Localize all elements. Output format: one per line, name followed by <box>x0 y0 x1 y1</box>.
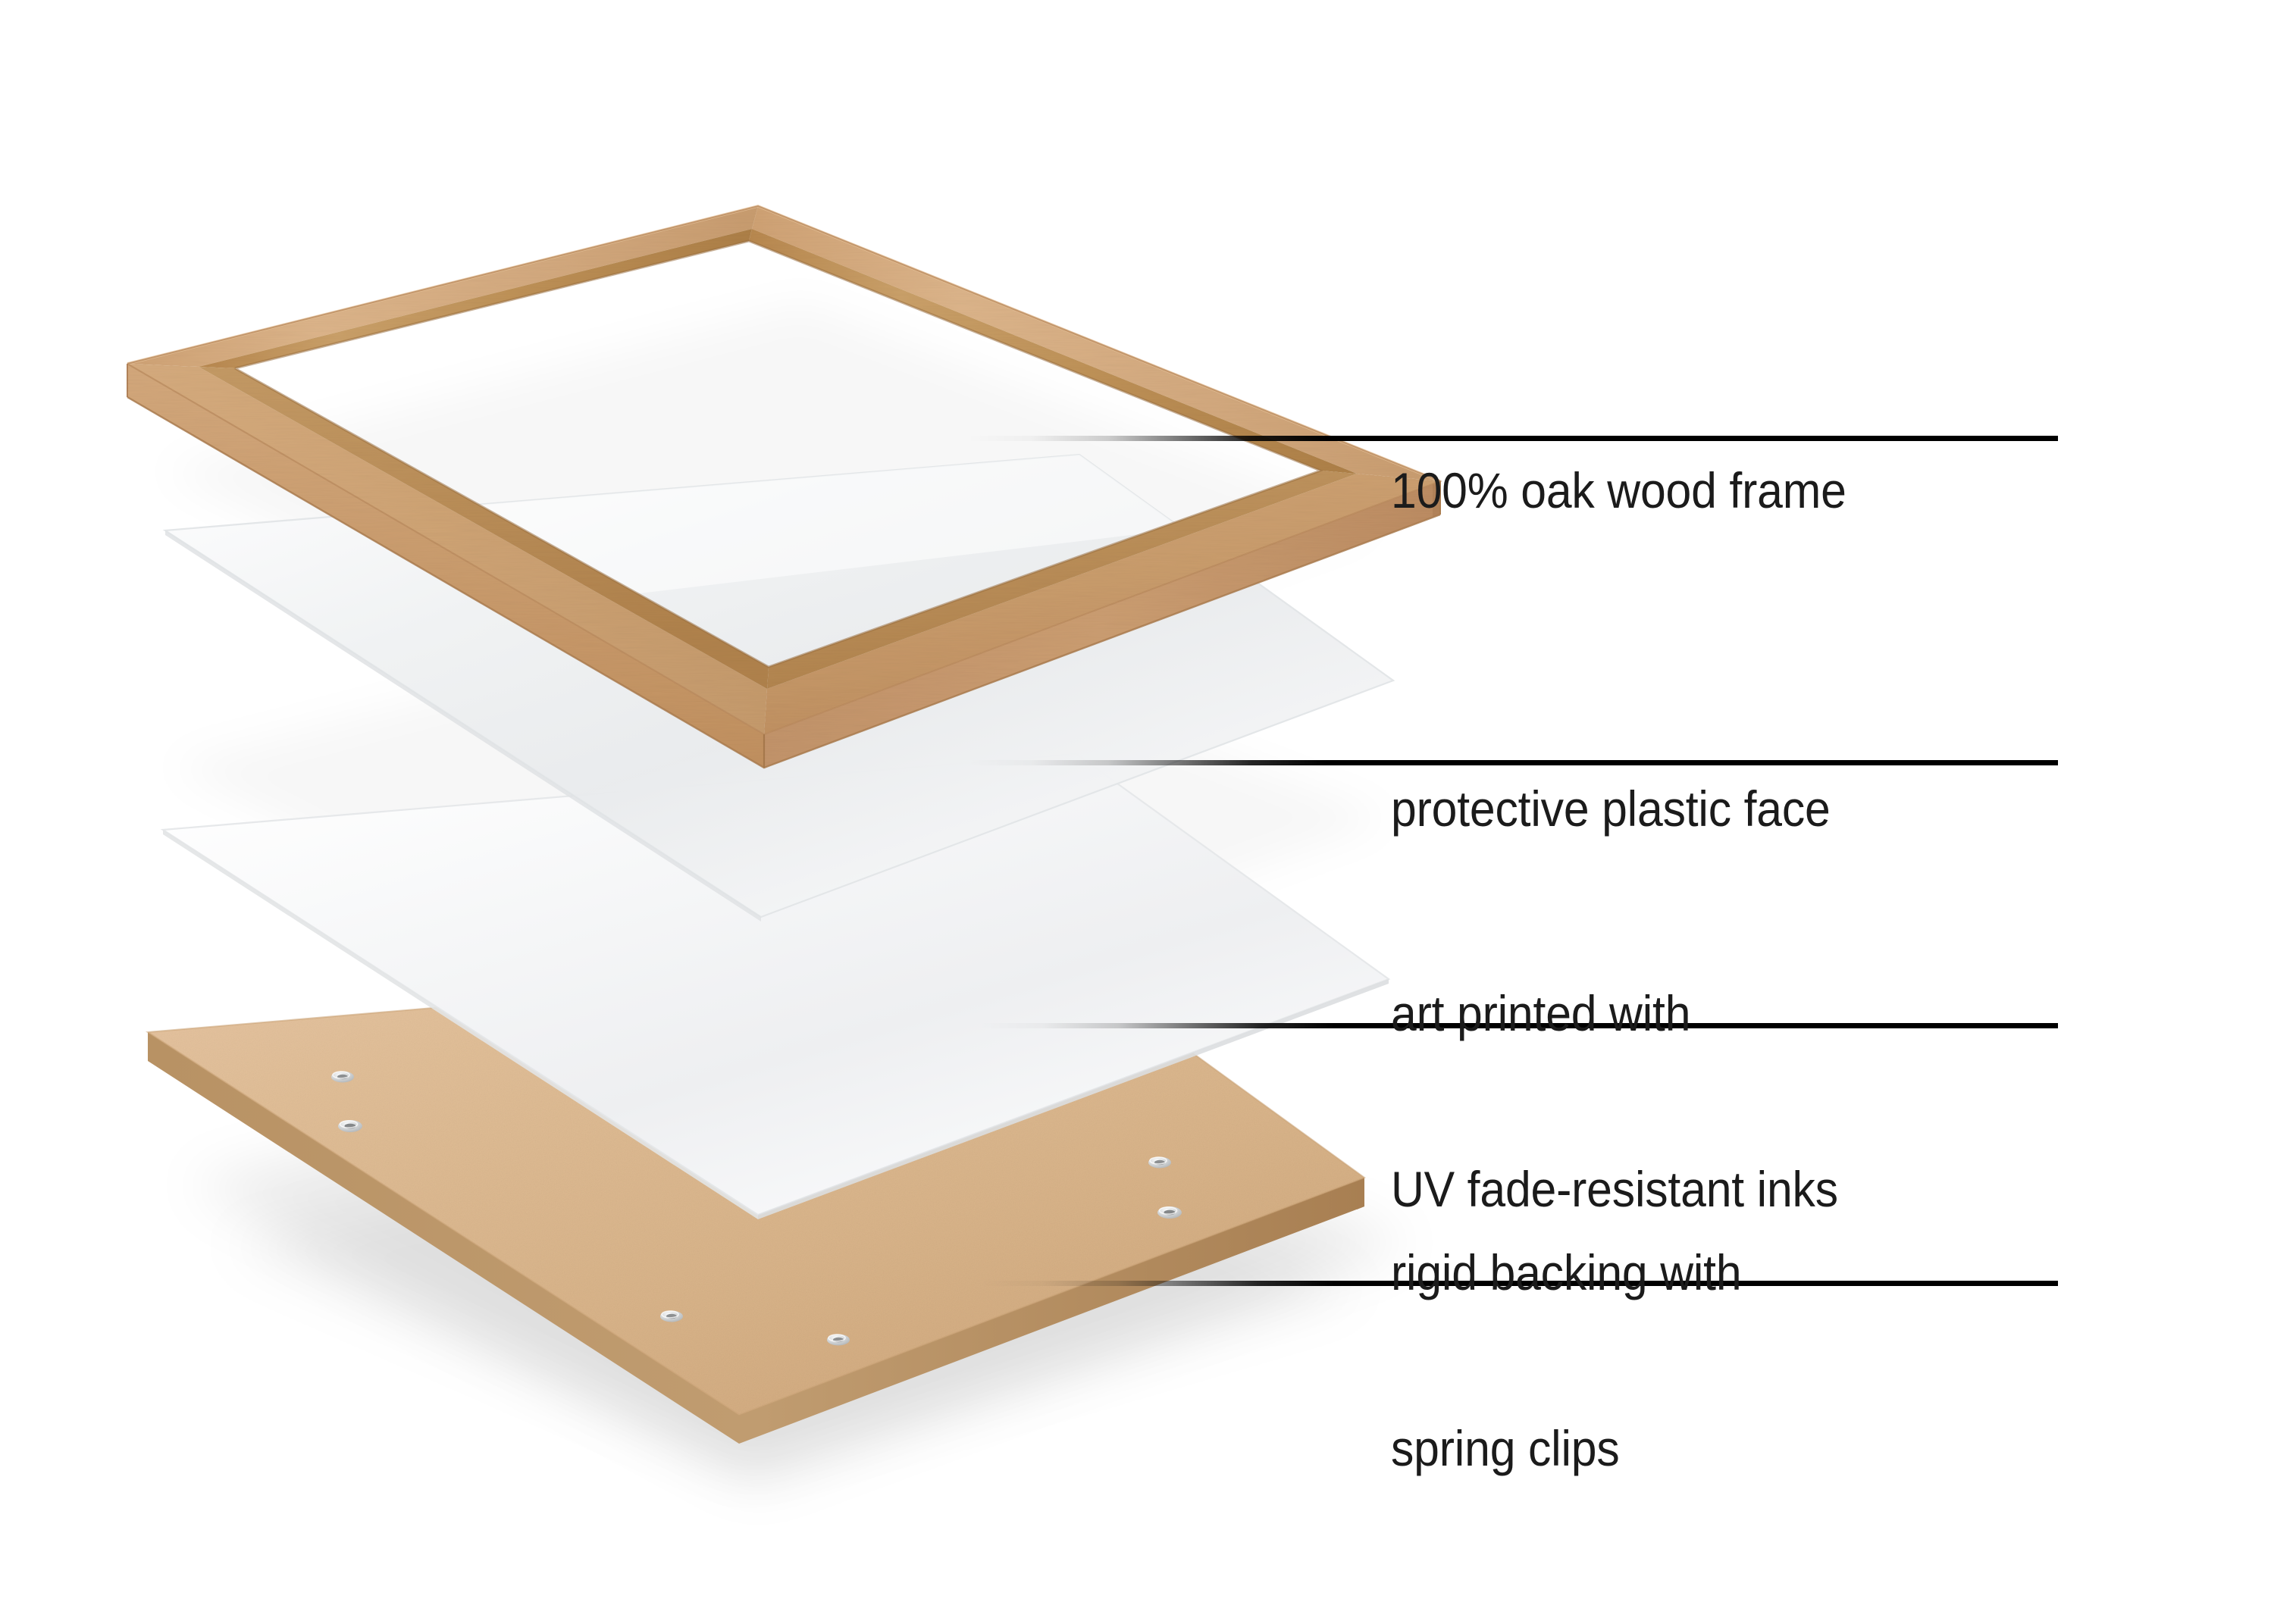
backing-edge-right <box>1357 1178 1364 1209</box>
callout-backing: rigid backing with spring clips <box>1391 1127 1741 1595</box>
spring-clip <box>1157 1206 1182 1219</box>
product-exploded-illustration <box>0 0 2274 1624</box>
spring-clip <box>331 1072 354 1083</box>
callout-backing-line-1: rigid backing with <box>1391 1244 1741 1302</box>
callout-frame: 100% oak wood frame <box>1391 345 1846 637</box>
exploded-view-diagram: 100% oak wood frame protective plastic f… <box>0 0 2274 1624</box>
callout-plastic-line-1: protective plastic face <box>1391 780 1831 838</box>
callout-frame-line-1: 100% oak wood frame <box>1391 462 1846 520</box>
callout-print-line-1: art printed with <box>1391 984 1838 1043</box>
spring-clip <box>1148 1157 1171 1169</box>
spring-clip <box>338 1120 362 1132</box>
spring-clip <box>827 1335 850 1346</box>
callout-backing-line-2: spring clips <box>1391 1419 1741 1478</box>
spring-clip <box>660 1311 683 1322</box>
